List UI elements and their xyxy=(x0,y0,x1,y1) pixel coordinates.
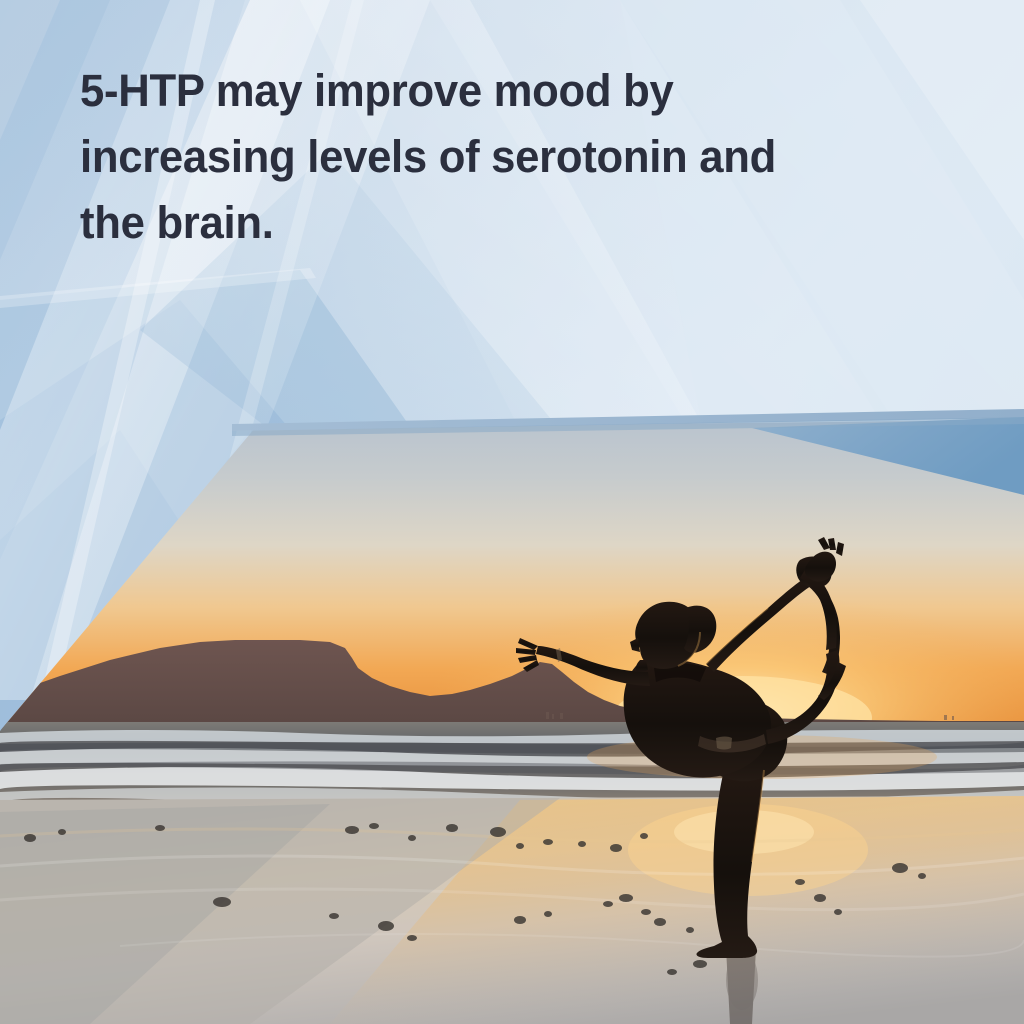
poster-canvas: 5-HTP may improve mood by increasing lev… xyxy=(0,0,1024,1024)
